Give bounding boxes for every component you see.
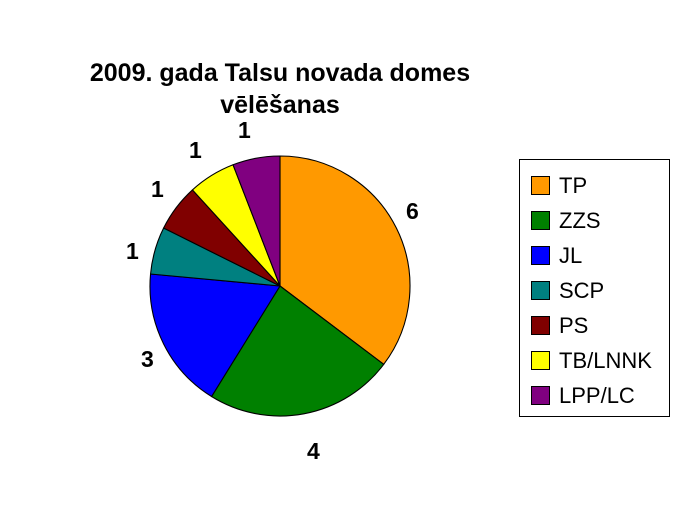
legend-label-lpp-lc: LPP/LC	[559, 385, 635, 407]
chart-title-line-2: vēlēšanas	[60, 89, 500, 121]
legend-item-tp[interactable]: TP	[531, 168, 669, 203]
legend-label-ps: PS	[559, 315, 588, 337]
pie-value-label-jl: 3	[141, 348, 154, 371]
legend-label-scp: SCP	[559, 280, 604, 302]
legend-item-zzs[interactable]: ZZS	[531, 203, 669, 238]
pie-plot-area	[149, 155, 411, 417]
pie-value-label-lpp-lc: 1	[238, 119, 251, 142]
pie-value-label-zzs: 4	[307, 440, 320, 463]
legend-swatch-tb-lnnk	[531, 351, 550, 370]
legend-swatch-scp	[531, 281, 550, 300]
pie-value-label-ps: 1	[151, 178, 164, 201]
pie-chart-figure: 2009. gada Talsu novada domes vēlēšanas …	[0, 0, 679, 512]
legend-swatch-jl	[531, 246, 550, 265]
legend-label-tp: TP	[559, 175, 587, 197]
legend-swatch-tp	[531, 176, 550, 195]
legend-item-lpp-lc[interactable]: LPP/LC	[531, 378, 669, 413]
chart-legend: TPZZSJLSCPPSTB/LNNKLPP/LC	[519, 159, 670, 417]
pie-svg	[149, 155, 411, 417]
pie-value-label-scp: 1	[126, 240, 139, 263]
pie-value-label-tp: 6	[406, 200, 419, 223]
legend-item-ps[interactable]: PS	[531, 308, 669, 343]
chart-title-line-1: 2009. gada Talsu novada domes	[60, 57, 500, 89]
legend-label-jl: JL	[559, 245, 582, 267]
pie-slice-group	[150, 156, 410, 416]
legend-item-group: TPZZSJLSCPPSTB/LNNKLPP/LC	[531, 168, 669, 413]
legend-label-zzs: ZZS	[559, 210, 601, 232]
legend-item-jl[interactable]: JL	[531, 238, 669, 273]
legend-label-tb-lnnk: TB/LNNK	[559, 350, 652, 372]
legend-swatch-lpp-lc	[531, 386, 550, 405]
chart-title: 2009. gada Talsu novada domes vēlēšanas	[60, 57, 500, 121]
legend-swatch-ps	[531, 316, 550, 335]
legend-item-tb-lnnk[interactable]: TB/LNNK	[531, 343, 669, 378]
pie-value-label-tb-lnnk: 1	[189, 139, 202, 162]
legend-item-scp[interactable]: SCP	[531, 273, 669, 308]
legend-swatch-zzs	[531, 211, 550, 230]
